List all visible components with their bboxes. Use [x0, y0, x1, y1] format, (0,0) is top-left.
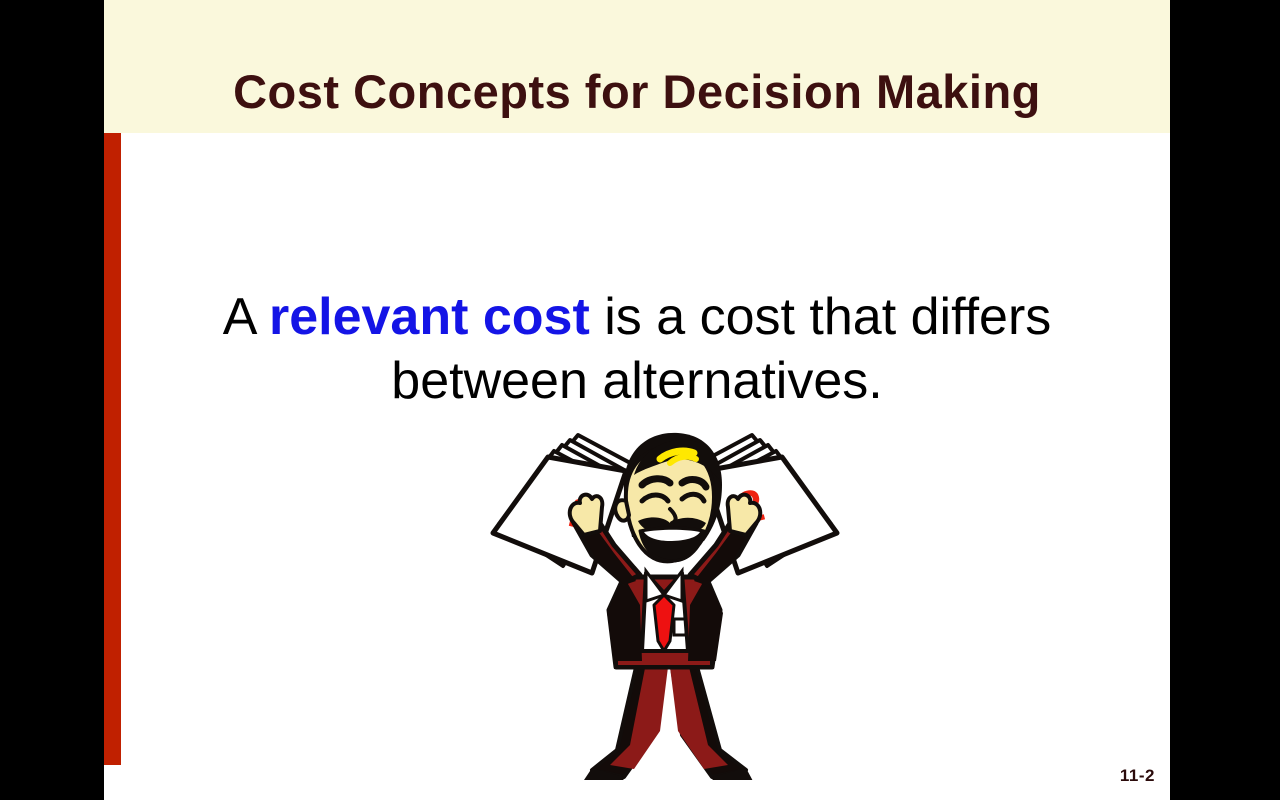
page-title: Cost Concepts for Decision Making [104, 64, 1170, 119]
legs [582, 663, 754, 780]
body-text-keyword: relevant cost [269, 288, 590, 346]
title-band: Cost Concepts for Decision Making [104, 0, 1170, 133]
page-number: 11-2 [1120, 766, 1155, 786]
left-accent-bar [104, 133, 121, 765]
slide-stage: Cost Concepts for Decision Making A rele… [0, 0, 1280, 800]
slide-canvas: Cost Concepts for Decision Making A rele… [104, 0, 1170, 800]
body-text: A relevant cost is a cost that differs b… [164, 285, 1110, 413]
body-text-lead: A [223, 288, 269, 346]
businessman-clipart: 1 2 [474, 405, 854, 780]
head [615, 433, 722, 561]
